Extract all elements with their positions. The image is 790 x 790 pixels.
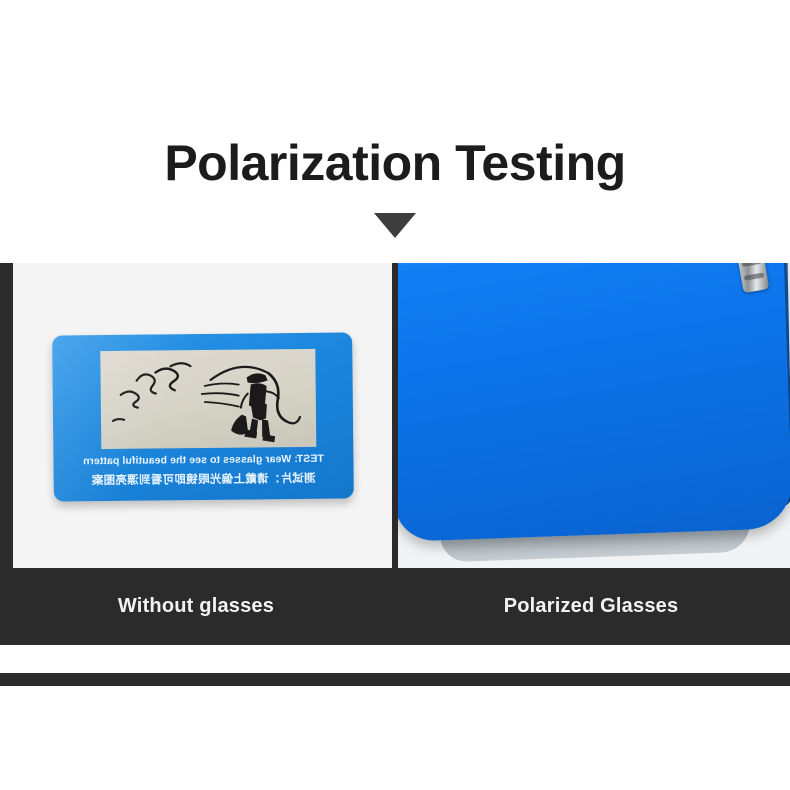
- lens-aperture: [433, 286, 740, 506]
- polarized-scene: TEST: Wear glasses to see the beautiful …: [398, 263, 790, 568]
- caption-polarized-glasses: Polarized Glasses: [392, 568, 790, 645]
- panel-without-glasses: TEST: Wear glasses to see the beautiful …: [13, 263, 392, 568]
- comparison-panels: TEST: Wear glasses to see the beautiful …: [0, 263, 790, 568]
- hinge-icon: [737, 263, 770, 293]
- test-card-line-zh-plain: 测试片：请戴上偏光眼镜即可看到漂亮图案: [54, 469, 354, 488]
- comparison-band: TEST: Wear glasses to see the beautiful …: [0, 263, 790, 645]
- page-title: Polarization Testing: [164, 134, 625, 192]
- sunglasses-frame: [398, 263, 790, 542]
- caption-row: Without glasses Polarized Glasses: [0, 568, 790, 645]
- test-card-line-en-plain: TEST: Wear glasses to see the beautiful …: [53, 452, 353, 467]
- test-card-window-plain: [100, 349, 316, 449]
- title-zone: Polarization Testing: [0, 128, 790, 198]
- caption-without-glasses: Without glasses: [0, 568, 392, 645]
- panel-polarized-glasses: TEST: Wear glasses to see the beautiful …: [398, 263, 790, 568]
- artwork-fisherman-plain: [100, 349, 316, 449]
- arrow-zone: [0, 208, 790, 242]
- triangle-down-icon: [374, 213, 416, 238]
- bottom-divider: [0, 673, 790, 686]
- test-card-plain: TEST: Wear glasses to see the beautiful …: [52, 332, 354, 501]
- polarization-testing-page: Polarization Testing: [0, 0, 790, 790]
